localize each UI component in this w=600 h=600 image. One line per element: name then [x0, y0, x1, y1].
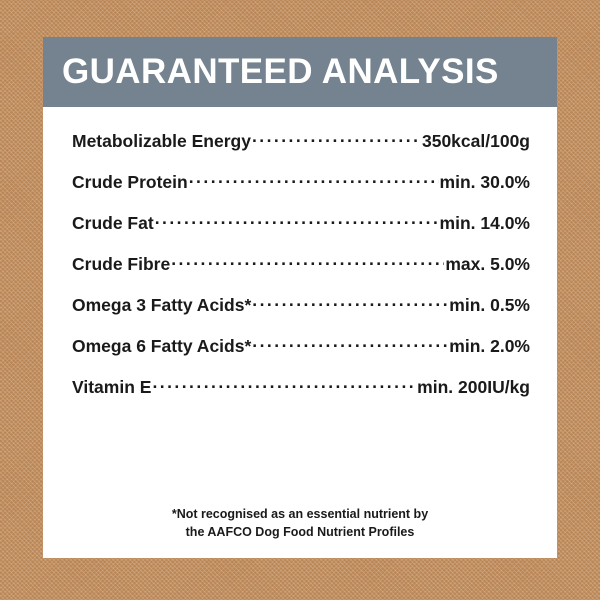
panel-header-bar: GUARANTEED ANALYSIS	[43, 37, 557, 107]
guaranteed-analysis-panel: GUARANTEED ANALYSIS Metabolizable Energy…	[43, 37, 557, 558]
nutrient-label: Omega 3 Fatty Acids*	[72, 295, 251, 316]
table-row: Metabolizable Energy 350kcal/100g	[72, 129, 530, 170]
nutrient-value: min. 200IU/kg	[417, 377, 530, 398]
dot-leader	[252, 293, 448, 311]
footnote: *Not recognised as an essential nutrient…	[43, 505, 557, 541]
nutrient-label: Metabolizable Energy	[72, 131, 251, 152]
table-row: Crude Fibre max. 5.0%	[72, 252, 530, 293]
nutrient-value: min. 2.0%	[449, 336, 530, 357]
nutrient-label: Crude Protein	[72, 172, 188, 193]
nutrient-value: 350kcal/100g	[422, 131, 530, 152]
dot-leader	[152, 375, 416, 393]
nutrient-label: Crude Fibre	[72, 254, 170, 275]
nutrient-table: Metabolizable Energy 350kcal/100g Crude …	[72, 129, 530, 416]
nutrient-label: Omega 6 Fatty Acids*	[72, 336, 251, 357]
table-row: Crude Protein min. 30.0%	[72, 170, 530, 211]
page-title: GUARANTEED ANALYSIS	[62, 52, 499, 92]
nutrient-value: max. 5.0%	[445, 254, 530, 275]
nutrient-value: min. 30.0%	[440, 172, 530, 193]
dot-leader	[171, 252, 444, 270]
nutrient-label: Vitamin E	[72, 377, 151, 398]
nutrient-value: min. 14.0%	[440, 213, 530, 234]
table-row: Vitamin E min. 200IU/kg	[72, 375, 530, 416]
table-row: Crude Fat min. 14.0%	[72, 211, 530, 252]
footnote-line-2: the AAFCO Dog Food Nutrient Profiles	[43, 523, 557, 541]
dot-leader	[155, 211, 439, 229]
dot-leader	[252, 334, 448, 352]
dot-leader	[252, 129, 421, 147]
nutrient-value: min. 0.5%	[449, 295, 530, 316]
nutrient-label: Crude Fat	[72, 213, 154, 234]
dot-leader	[189, 170, 439, 188]
table-row: Omega 6 Fatty Acids* min. 2.0%	[72, 334, 530, 375]
footnote-line-1: *Not recognised as an essential nutrient…	[43, 505, 557, 523]
table-row: Omega 3 Fatty Acids* min. 0.5%	[72, 293, 530, 334]
